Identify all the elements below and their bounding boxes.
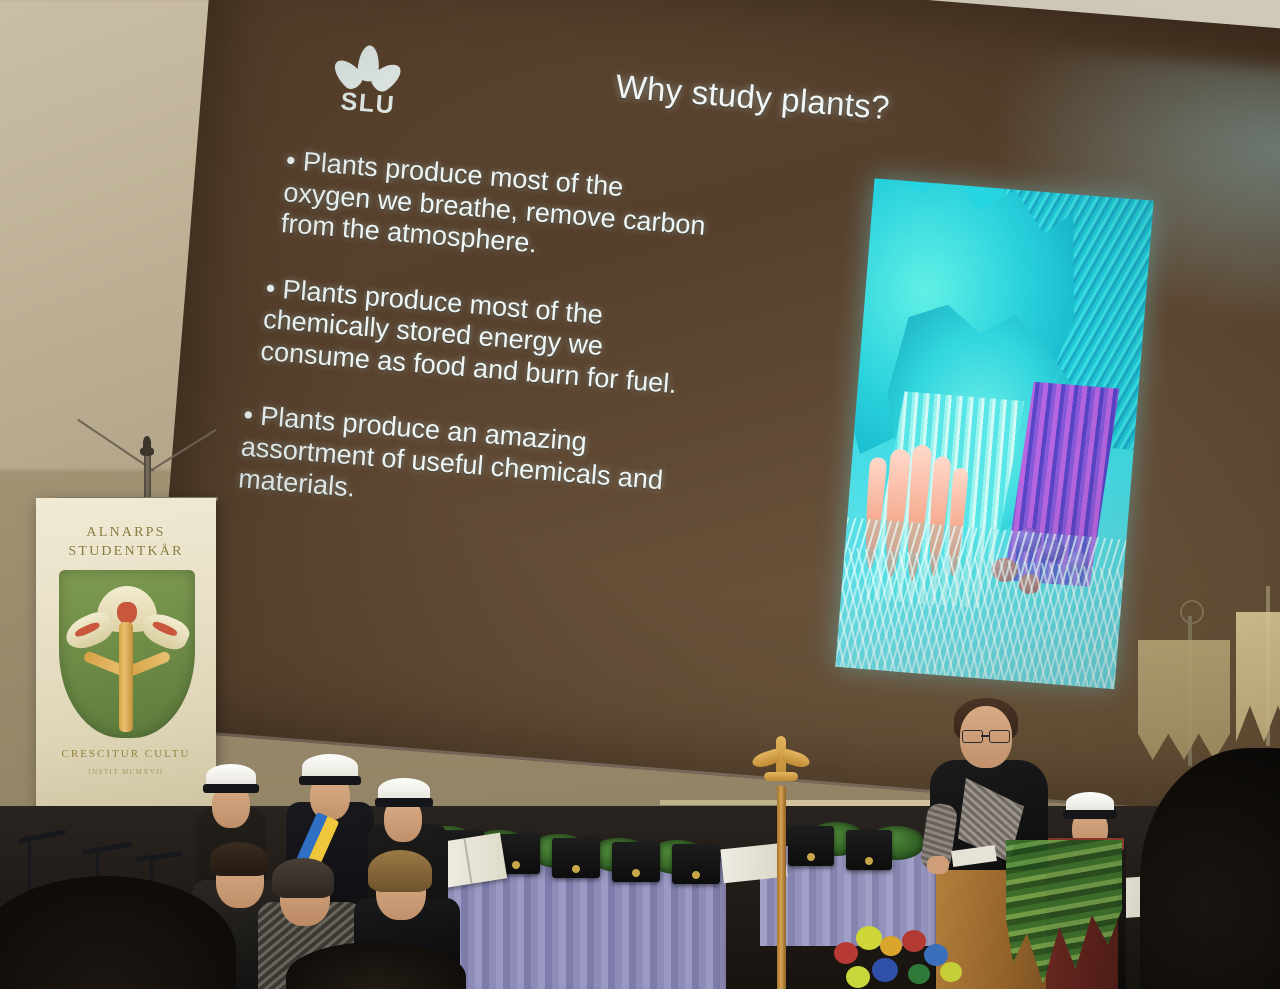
speaker-hand [927, 856, 949, 874]
banner-line-2: STUDENTKÅR [36, 544, 216, 560]
banner-subtext: INSTIT MCMXVII [36, 768, 216, 776]
ceremonial-stanchion [777, 786, 786, 989]
right-banner-finial-icon [1180, 600, 1204, 624]
slide-surface: SLU Why study plants? • Plants produce m… [150, 0, 1280, 825]
eyeglasses-icon [962, 730, 1010, 741]
student-cap-box [672, 844, 720, 884]
banner-shield-emblem [59, 570, 195, 738]
student-cap-box [612, 842, 660, 882]
floral-arrangement [828, 918, 988, 989]
banner-motto: CRESCITUR CULTU [36, 748, 216, 760]
velvet-rope-left [660, 800, 780, 827]
photo-scene: SLU Why study plants? • Plants produce m… [0, 0, 1280, 989]
fleur-de-lis-icon [752, 736, 810, 792]
alnarps-studentkar-banner: ALNARPS STUDENTKÅR CRESCITUR CULTU INSTI… [36, 498, 216, 808]
right-banner-1 [1138, 640, 1230, 760]
banner-finial-icon [138, 436, 156, 460]
projection-screen: SLU Why study plants? • Plants produce m… [150, 0, 1280, 825]
student-cap-box [788, 826, 834, 866]
student-cap-box [552, 838, 600, 878]
banner-line-1: ALNARPS [36, 525, 216, 541]
student-cap-box [846, 830, 892, 870]
